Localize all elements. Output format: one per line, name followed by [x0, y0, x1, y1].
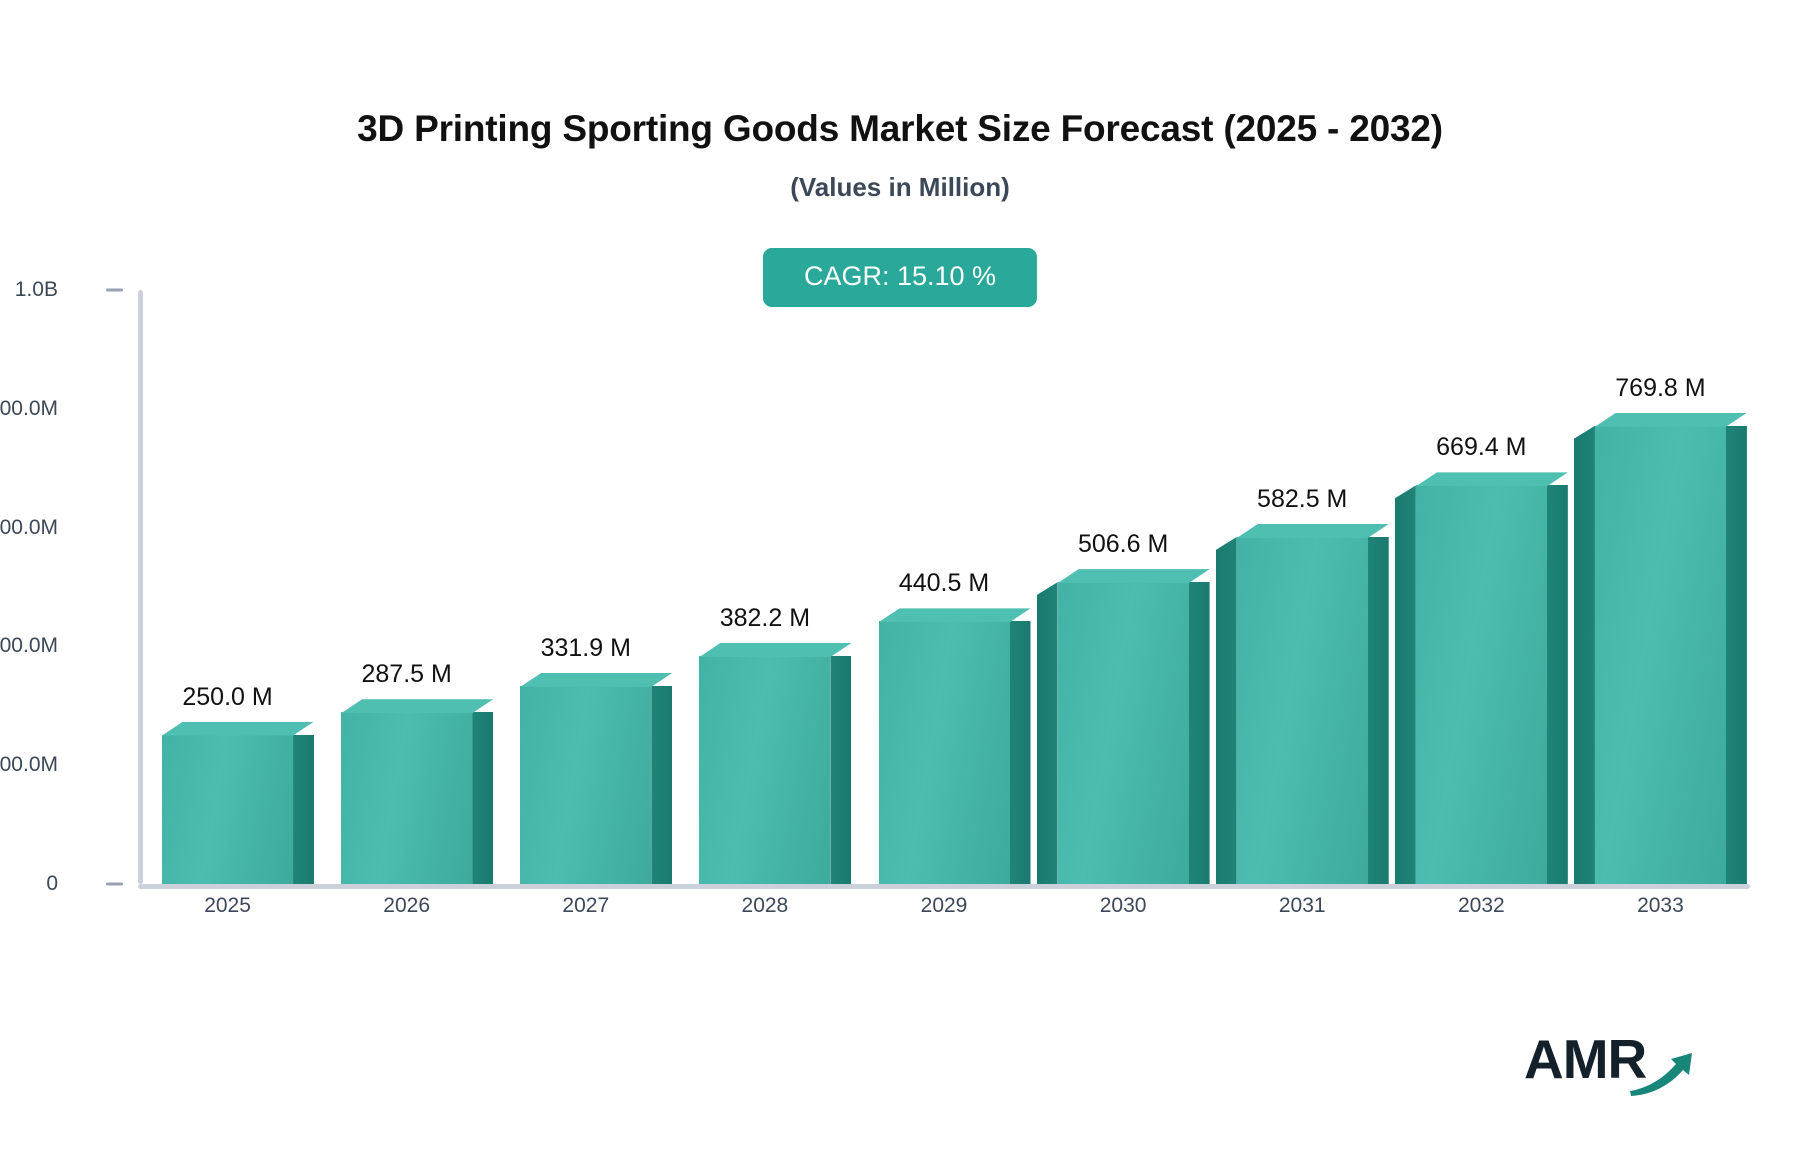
x-axis-tick-label: 2028	[742, 894, 789, 918]
bar-value-label: 669.4 M	[1436, 433, 1526, 462]
y-axis-tick-label: 1.0B	[0, 278, 58, 302]
bar-right-face	[1726, 426, 1747, 884]
bar-value-label: 382.2 M	[720, 604, 810, 633]
bar-front-face	[341, 712, 472, 884]
bar-column[interactable]: 669.4 M	[1416, 472, 1547, 884]
bar[interactable]	[1058, 569, 1189, 884]
bar-right-face	[1547, 485, 1568, 884]
x-axis-tick-label: 2030	[1100, 894, 1147, 918]
bar-top-face	[162, 722, 314, 736]
bar[interactable]	[699, 643, 830, 884]
bar-front-face	[520, 686, 651, 884]
y-axis-tick-label: 600.0M	[0, 516, 58, 540]
y-axis-tick-label: 200.0M	[0, 753, 58, 777]
bar-value-label: 331.9 M	[541, 634, 631, 663]
bar-top-face	[1416, 472, 1568, 486]
bar-right-face	[1010, 621, 1031, 884]
x-axis-tick-label: 2033	[1637, 894, 1684, 918]
bar-value-label: 440.5 M	[899, 569, 989, 598]
x-axis-tick-label: 2031	[1279, 894, 1326, 918]
bar-top-face	[1237, 524, 1389, 538]
bar[interactable]	[520, 673, 651, 884]
bar[interactable]	[879, 608, 1010, 884]
bar[interactable]	[1416, 472, 1547, 884]
bar-front-face	[162, 735, 293, 885]
bar-column[interactable]: 250.0 M	[162, 722, 293, 885]
bar-top-face	[1058, 569, 1210, 583]
bar-front-face	[1237, 537, 1368, 884]
bar-column[interactable]: 769.8 M	[1595, 413, 1726, 884]
bar-column[interactable]: 287.5 M	[341, 699, 472, 884]
bar-top-face	[1595, 413, 1747, 427]
y-axis-tick-mark	[106, 289, 123, 292]
bar-right-face	[1368, 537, 1389, 884]
bar-right-face	[651, 686, 672, 884]
bar-left-face	[1216, 537, 1237, 884]
bar-value-label: 769.8 M	[1615, 374, 1705, 403]
bar[interactable]	[1237, 524, 1368, 884]
bar-top-face	[341, 699, 493, 713]
bar-right-face	[472, 712, 493, 884]
bar-value-label: 287.5 M	[361, 660, 451, 689]
bar-right-face	[830, 656, 851, 884]
x-axis-tick-label: 2025	[204, 894, 251, 918]
bar-top-face	[699, 643, 851, 657]
bar-column[interactable]: 582.5 M	[1237, 524, 1368, 884]
bar-front-face	[1058, 582, 1189, 884]
bar-front-face	[879, 621, 1010, 884]
bar-column[interactable]: 331.9 M	[520, 673, 651, 884]
bar-left-face	[1395, 485, 1416, 884]
bar-top-face	[520, 673, 672, 687]
y-axis-tick-mark	[106, 883, 123, 886]
y-axis-tick-label: 0	[0, 872, 58, 896]
bar-front-face	[699, 656, 830, 884]
bar-front-face	[1595, 426, 1726, 884]
x-axis-tick-label: 2029	[921, 894, 968, 918]
bar-value-label: 506.6 M	[1078, 530, 1168, 559]
amr-logo: AMR	[1524, 1028, 1704, 1100]
bar-top-face	[879, 608, 1031, 622]
y-axis-line	[138, 290, 143, 884]
growth-arrow-icon	[1524, 1028, 1704, 1100]
x-axis-line	[138, 884, 1750, 889]
bar-column[interactable]: 382.2 M	[699, 643, 830, 884]
bar-value-label: 582.5 M	[1257, 485, 1347, 514]
bar-value-label: 250.0 M	[182, 683, 272, 712]
bar-left-face	[1574, 426, 1595, 884]
bar[interactable]	[162, 722, 293, 885]
x-axis-tick-label: 2027	[562, 894, 609, 918]
bar-front-face	[1416, 485, 1547, 884]
x-axis-tick-label: 2032	[1458, 894, 1505, 918]
bar[interactable]	[341, 699, 472, 884]
chart-canvas: 3D Printing Sporting Goods Market Size F…	[0, 0, 1800, 1156]
plot-area: 0200.0M400.0M600.0M800.0M1.0B 250.0 M287…	[138, 290, 1750, 884]
x-axis-tick-label: 2026	[383, 894, 430, 918]
bar-right-face	[293, 735, 314, 885]
y-axis-tick-label: 800.0M	[0, 397, 58, 421]
bar-right-face	[1189, 582, 1210, 884]
bar-column[interactable]: 506.6 M	[1058, 569, 1189, 884]
y-axis-tick-label: 400.0M	[0, 634, 58, 658]
chart-title: 3D Printing Sporting Goods Market Size F…	[0, 108, 1800, 150]
bar-left-face	[1037, 582, 1058, 884]
bar-column[interactable]: 440.5 M	[879, 608, 1010, 884]
chart-subtitle: (Values in Million)	[0, 172, 1800, 203]
bar[interactable]	[1595, 413, 1726, 884]
